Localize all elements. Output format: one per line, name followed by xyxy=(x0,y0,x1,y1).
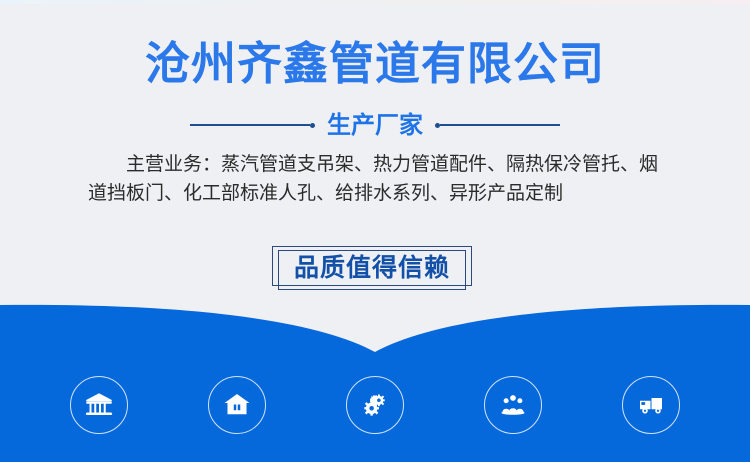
rule-line-right xyxy=(440,124,560,126)
bank-building-icon xyxy=(84,390,114,420)
feature-icon-factory-house[interactable] xyxy=(208,376,266,434)
subtitle-row: 生产厂家 xyxy=(0,110,750,140)
feature-icon-bank-building[interactable] xyxy=(70,376,128,434)
team-people-icon xyxy=(498,390,528,420)
subtitle-text: 生产厂家 xyxy=(315,110,435,140)
feature-icon-team-people[interactable] xyxy=(484,376,542,434)
feature-icon-delivery-truck[interactable] xyxy=(622,376,680,434)
quality-badge-text: 品质值得信赖 xyxy=(294,254,450,282)
feature-icon-row xyxy=(0,374,750,436)
rule-line-left xyxy=(190,124,310,126)
quality-badge: 品质值得信赖 xyxy=(279,251,465,285)
subtitle-rule-right xyxy=(435,123,560,128)
gears-icon xyxy=(360,390,390,420)
feature-icon-gears[interactable] xyxy=(346,376,404,434)
factory-house-icon xyxy=(222,390,252,420)
business-description: 主营业务：蒸汽管道支吊架、热力管道配件、隔热保冷管托、烟道挡板门、化工部标准人孔… xyxy=(88,150,668,208)
delivery-truck-icon xyxy=(636,390,666,420)
company-title: 沧州齐鑫管道有限公司 xyxy=(0,36,750,92)
subtitle-rule-left xyxy=(190,123,315,128)
company-promo-banner: 沧州齐鑫管道有限公司 生产厂家 主营业务：蒸汽管道支吊架、热力管道配件、隔热保冷… xyxy=(0,0,750,462)
